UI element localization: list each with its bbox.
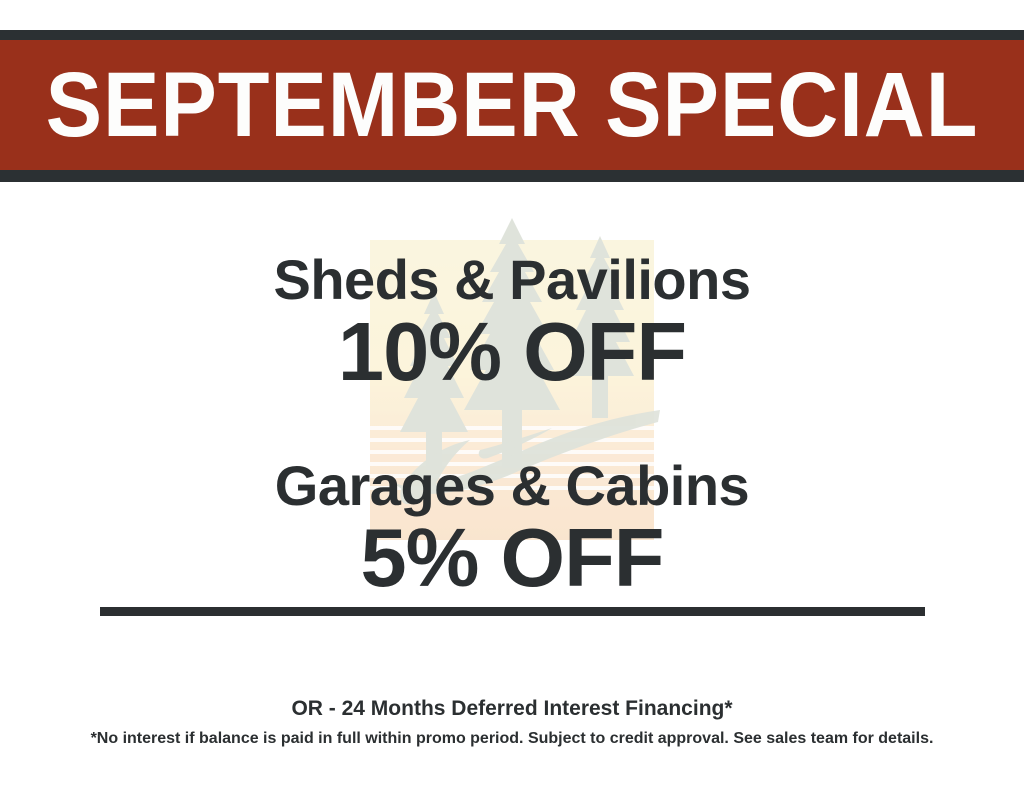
offer-name: Sheds & Pavilions bbox=[0, 252, 1024, 308]
offer-amount: 10% OFF bbox=[0, 310, 1024, 395]
offer-sheds-pavilions: Sheds & Pavilions 10% OFF bbox=[0, 252, 1024, 395]
banner-title: SEPTEMBER SPECIAL bbox=[41, 40, 983, 170]
offer-garages-cabins: Garages & Cabins 5% OFF bbox=[0, 458, 1024, 601]
header-banner: SEPTEMBER SPECIAL bbox=[0, 30, 1024, 182]
disclaimer-text: *No interest if balance is paid in full … bbox=[0, 730, 1024, 748]
offers-section: Sheds & Pavilions 10% OFF Garages & Cabi… bbox=[0, 182, 1024, 652]
offer-amount: 5% OFF bbox=[0, 516, 1024, 601]
financing-offer-text: OR - 24 Months Deferred Interest Financi… bbox=[0, 697, 1024, 721]
offer-name: Garages & Cabins bbox=[0, 458, 1024, 514]
september-special-flyer: SEPTEMBER SPECIAL bbox=[0, 0, 1024, 791]
divider-rule-top bbox=[100, 607, 925, 616]
